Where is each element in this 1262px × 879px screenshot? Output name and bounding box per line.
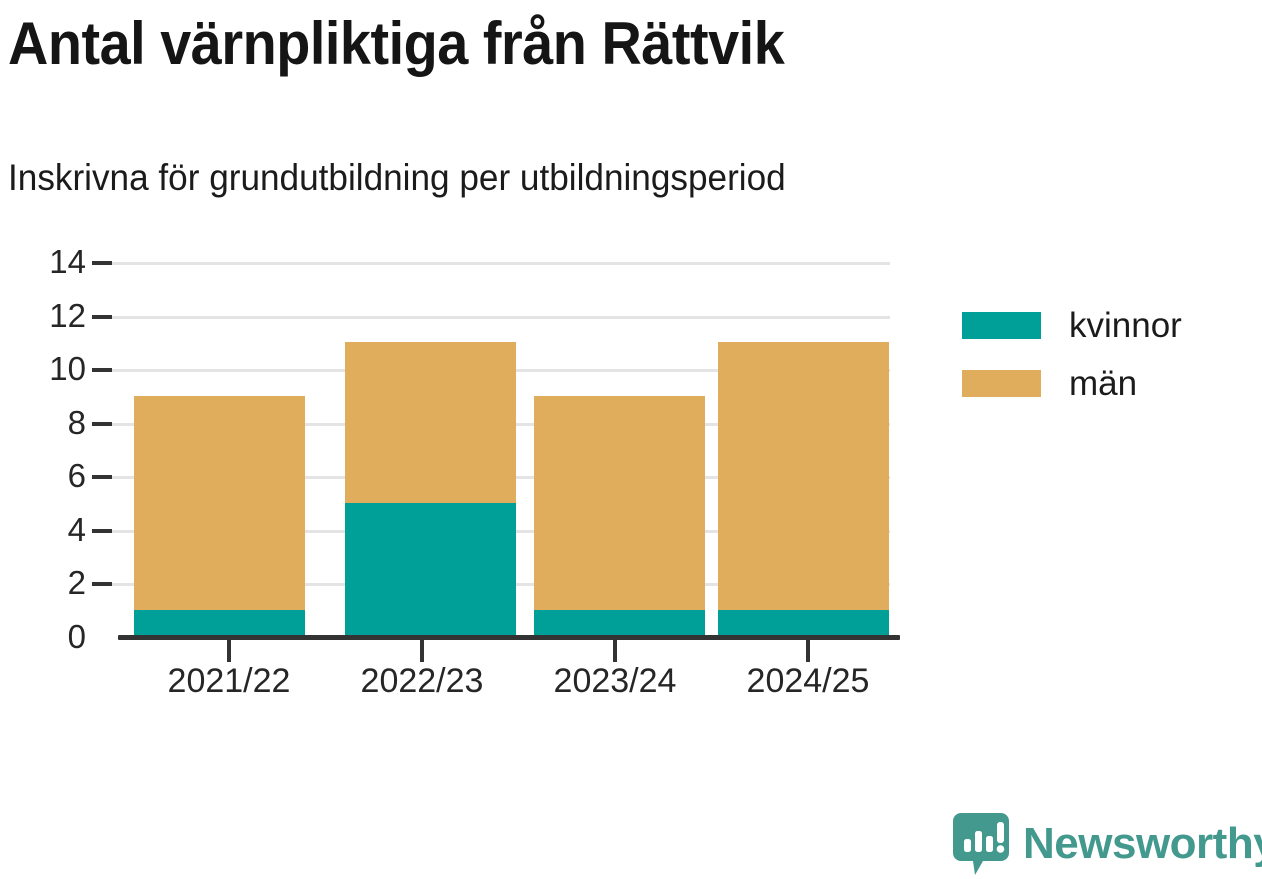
bar-segment-man [134, 396, 305, 610]
chart-subtitle: Inskrivna för grundutbildning per utbild… [8, 155, 1110, 201]
newsworthy-speech-bubble-bar-chart-icon [953, 813, 1009, 875]
y-tick-mark [92, 475, 112, 479]
gridline [110, 316, 890, 319]
bar-segment-kvinnor [718, 610, 889, 637]
y-tick-mark [92, 315, 112, 319]
y-tick-label: 2 [0, 566, 86, 599]
legend-label: män [1069, 366, 1137, 401]
y-tick-mark [92, 529, 112, 533]
chart-plot-area [110, 262, 890, 637]
y-tick-mark [92, 368, 112, 372]
y-tick-label: 0 [0, 620, 86, 653]
bar-2023-24[interactable] [534, 396, 705, 637]
legend-label: kvinnor [1069, 308, 1182, 343]
x-tick-mark [613, 640, 617, 662]
bar-segment-man [534, 396, 705, 610]
gridline [110, 262, 890, 265]
bar-segment-man [718, 342, 889, 610]
y-tick-label: 14 [0, 245, 86, 278]
legend-item-kvinnor[interactable]: kvinnor [962, 296, 1182, 354]
y-tick-mark [92, 261, 112, 265]
x-tick-mark [227, 640, 231, 662]
newsworthy-logo[interactable]: Newsworthy [953, 813, 1262, 875]
x-tick-mark [806, 640, 810, 662]
x-tick-mark [420, 640, 424, 662]
bar-2021-22[interactable] [134, 396, 305, 637]
y-tick-label: 10 [0, 352, 86, 385]
page-title: Antal värnpliktiga från Rättvik [8, 8, 1031, 80]
legend-swatch-icon [962, 312, 1041, 339]
x-tick-label-2024-25: 2024/25 [688, 660, 928, 702]
chart-legend: kvinnor män [962, 296, 1182, 412]
x-axis-line [118, 635, 900, 640]
bar-segment-kvinnor [345, 503, 516, 637]
legend-item-man[interactable]: män [962, 354, 1182, 412]
y-tick-label: 8 [0, 406, 86, 439]
bar-segment-kvinnor [134, 610, 305, 637]
y-tick-label: 12 [0, 299, 86, 332]
legend-swatch-icon [962, 370, 1041, 397]
y-tick-mark [92, 422, 112, 426]
y-tick-label: 4 [0, 513, 86, 546]
y-tick-mark [92, 582, 112, 586]
newsworthy-wordmark: Newsworthy [1023, 822, 1262, 866]
y-tick-label: 6 [0, 459, 86, 492]
bar-2022-23[interactable] [345, 342, 516, 637]
bar-2024-25[interactable] [718, 342, 889, 637]
bar-segment-kvinnor [534, 610, 705, 637]
bar-segment-man [345, 342, 516, 503]
